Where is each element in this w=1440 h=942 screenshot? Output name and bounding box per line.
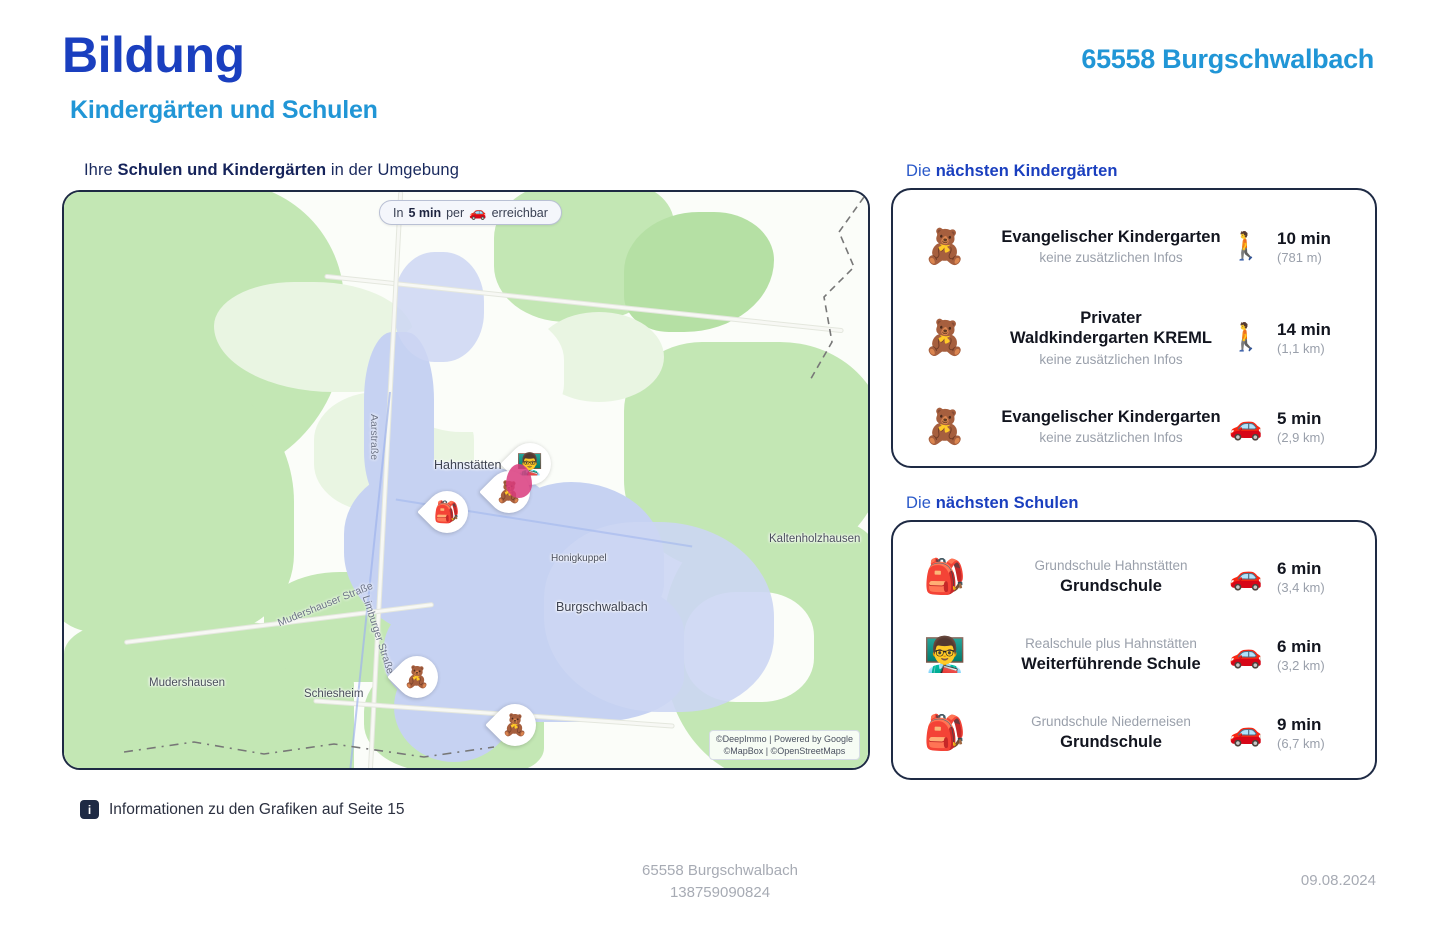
school-type: Grundschule [1001,576,1221,596]
car-icon: 🚗 [1225,413,1267,440]
map-forest-w [62,372,294,632]
teddy-bear-icon: 🧸 [502,715,528,736]
footer-place: 65558 Burgschwalbach [0,860,1440,882]
travel-distance: (6,7 km) [1277,736,1325,751]
kindergartens-title-bold: nächsten Kindergärten [936,162,1118,180]
location-heading: 65558 Burgschwalbach [1081,44,1374,75]
travel-duration: 6 min [1277,637,1325,657]
pill-middle: per [446,206,464,220]
car-icon: 🚗 [1225,719,1267,746]
travel-distance: (3,4 km) [1277,580,1325,595]
school-institution: Grundschule Niederneisen [1001,714,1221,730]
map-boundary-s [124,692,504,770]
backpack-icon: 🎒 [893,560,997,594]
school-info: Grundschule Niederneisen Grundschule [997,714,1225,752]
surroundings-map[interactable]: Hahnstätten Kaltenholzhausen Burgschwalb… [62,190,870,770]
map-attribution-line2: ©MapBox | ©OpenStreetMaps [716,745,853,757]
schools-title-bold: nächsten Schulen [936,494,1079,512]
school-institution: Realschule plus Hahnstätten [1001,636,1221,652]
backpack-icon: 🎒 [434,502,460,523]
map-label-burgschwalbach: Burgschwalbach [556,600,648,614]
kindergarten-name: Evangelischer Kindergarten [1001,227,1221,247]
map-label-kaltenholzhausen: Kaltenholzhausen [769,533,860,545]
walking-person-icon: 🚶 [1225,324,1267,351]
map-label-schiesheim: Schiesheim [304,688,363,700]
kindergarten-extra: keine zusätzlichen Infos [1001,250,1221,266]
kindergarten-name-line2: Waldkindergarten KREML [1001,328,1221,348]
info-icon: i [80,800,99,819]
travel-info: 🚶 14 min (1,1 km) [1225,320,1375,357]
kindergarten-name-line1: Privater [1001,308,1221,328]
school-type: Grundschule [1001,732,1221,752]
teddy-bear-icon: 🧸 [893,410,997,444]
graphics-info-note: i Informationen zu den Grafiken auf Seit… [80,800,405,819]
kindergartens-title-lead: Die [906,162,936,180]
pill-prefix: In [393,206,403,220]
schools-card: 🎒 Grundschule Hahnstätten Grundschule 🚗 … [891,520,1377,780]
travel-distance: (1,1 km) [1277,341,1331,356]
teddy-bear-icon: 🧸 [893,230,997,264]
footer-id: 138759090824 [0,882,1440,904]
car-icon: 🚗 [469,204,486,221]
graphics-info-text: Informationen zu den Grafiken auf Seite … [109,801,405,819]
travel-duration: 6 min [1277,559,1325,579]
kindergartens-card: 🧸 Evangelischer Kindergarten keine zusät… [891,188,1377,468]
travel-values: 14 min (1,1 km) [1277,320,1331,357]
kindergarten-extra: keine zusätzlichen Infos [1001,352,1221,368]
travel-values: 10 min (781 m) [1277,229,1331,266]
list-item[interactable]: 👨‍🏫 Realschule plus Hahnstätten Weiterfü… [893,622,1375,688]
map-caption-bold: Schulen und Kindergärten [118,161,327,179]
travel-info: 🚗 9 min (6,7 km) [1225,715,1375,752]
map-street-aarstrasse: Aarstraße [368,414,380,460]
kindergartens-section-title: Die nächsten Kindergärten [906,162,1118,181]
walking-person-icon: 🚶 [1225,233,1267,260]
travel-values: 6 min (3,4 km) [1277,559,1325,596]
school-info: Realschule plus Hahnstätten Weiterführen… [997,636,1225,674]
kindergarten-name: Evangelischer Kindergarten [1001,407,1221,427]
teddy-bear-icon: 🧸 [893,321,997,355]
map-attribution-line1: ©DeepImmo | Powered by Google [716,733,853,745]
travel-duration: 10 min [1277,229,1331,249]
map-attribution: ©DeepImmo | Powered by Google ©MapBox | … [709,730,860,760]
page-title: Bildung [62,26,245,84]
map-boundary-ne [714,192,870,392]
car-icon: 🚗 [1225,641,1267,668]
travel-duration: 14 min [1277,320,1331,340]
map-label-hahnstaetten: Hahnstätten [434,458,501,472]
footer-identity: 65558 Burgschwalbach 138759090824 [0,860,1440,904]
travel-info: 🚶 10 min (781 m) [1225,229,1375,266]
map-label-honigkuppel: Honigkuppel [551,553,607,564]
list-item[interactable]: 🧸 Evangelischer Kindergarten keine zusät… [893,212,1375,282]
pill-value: 5 min [408,206,441,220]
travel-info: 🚗 6 min (3,2 km) [1225,637,1375,674]
travel-values: 6 min (3,2 km) [1277,637,1325,674]
car-icon: 🚗 [1225,563,1267,590]
travel-info: 🚗 6 min (3,4 km) [1225,559,1375,596]
schools-title-lead: Die [906,494,936,512]
travel-duration: 5 min [1277,409,1325,429]
travel-info: 🚗 5 min (2,9 km) [1225,409,1375,446]
map-canvas: Hahnstätten Kaltenholzhausen Burgschwalb… [64,192,868,768]
list-item[interactable]: 🧸 Evangelischer Kindergarten keine zusät… [893,392,1375,462]
list-item[interactable]: 🧸 Privater Waldkindergarten KREML keine … [893,298,1375,378]
travel-duration: 9 min [1277,715,1325,735]
school-institution: Grundschule Hahnstätten [1001,558,1221,574]
pill-suffix: erreichbar [492,206,548,220]
kindergarten-info: Privater Waldkindergarten KREML keine zu… [997,308,1225,367]
kindergarten-info: Evangelischer Kindergarten keine zusätzl… [997,227,1225,266]
travel-values: 5 min (2,9 km) [1277,409,1325,446]
map-urban-burgschwalbach [544,522,774,712]
travel-distance: (781 m) [1277,250,1331,265]
map-urban-hahnstaetten [394,252,484,362]
subject-property-pin [506,464,532,498]
travel-distance: (3,2 km) [1277,658,1325,673]
footer-date: 09.08.2024 [1301,872,1376,889]
school-info: Grundschule Hahnstätten Grundschule [997,558,1225,596]
kindergarten-info: Evangelischer Kindergarten keine zusätzl… [997,407,1225,446]
map-caption: Ihre Schulen und Kindergärten in der Umg… [84,161,459,180]
map-caption-tail: in der Umgebung [326,161,459,179]
schools-section-title: Die nächsten Schulen [906,494,1079,513]
map-label-mudershausen: Mudershausen [149,677,225,689]
page-subtitle: Kindergärten und Schulen [70,96,378,125]
travel-values: 9 min (6,7 km) [1277,715,1325,752]
school-type: Weiterführende Schule [1001,654,1221,674]
list-item[interactable]: 🎒 Grundschule Hahnstätten Grundschule 🚗 … [893,544,1375,610]
kindergarten-extra: keine zusätzlichen Infos [1001,430,1221,446]
teacher-icon: 👨‍🏫 [893,638,997,672]
reachability-badge: In 5 min per 🚗 erreichbar [379,200,562,225]
backpack-icon: 🎒 [893,716,997,750]
teddy-bear-icon: 🧸 [404,667,430,688]
education-report-page: Bildung Kindergärten und Schulen 65558 B… [0,0,1440,942]
travel-distance: (2,9 km) [1277,430,1325,445]
list-item[interactable]: 🎒 Grundschule Niederneisen Grundschule 🚗… [893,700,1375,766]
map-caption-lead: Ihre [84,161,118,179]
